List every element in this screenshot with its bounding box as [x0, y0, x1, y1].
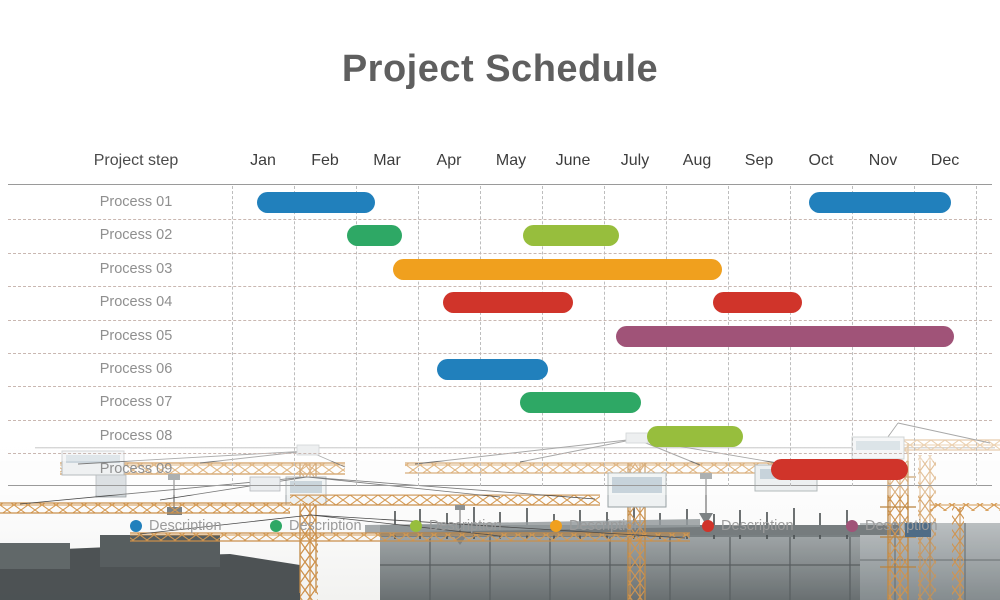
legend-dot-icon — [702, 520, 714, 532]
gantt-bar[interactable] — [257, 192, 375, 213]
legend-item-3[interactable]: Description — [410, 518, 502, 534]
gantt-bar[interactable] — [771, 459, 907, 480]
legend-label: Description — [149, 518, 222, 534]
legend-label: Description — [721, 518, 794, 534]
grid-vline — [232, 186, 233, 486]
row-label-5: Process 05 — [40, 328, 232, 344]
legend-dot-icon — [846, 520, 858, 532]
legend-label: Description — [289, 518, 362, 534]
month-header-row: Project step JanFebMarAprMayJuneJulyAugS… — [0, 150, 1000, 184]
legend-dot-icon — [410, 520, 422, 532]
row-label-4: Process 04 — [40, 294, 232, 310]
row-label-2: Process 02 — [40, 227, 232, 243]
month-header-sep: Sep — [728, 152, 790, 170]
gantt-bar[interactable] — [523, 225, 619, 246]
legend-item-5[interactable]: Description — [702, 518, 794, 534]
grid-rowline — [8, 253, 992, 254]
month-header-apr: Apr — [418, 152, 480, 170]
grid-bottom-rule — [8, 485, 992, 486]
row-label-8: Process 08 — [40, 428, 232, 444]
legend-label: Description — [569, 518, 642, 534]
gantt-grid: Process 01Process 02Process 03Process 04… — [8, 184, 992, 486]
legend-item-6[interactable]: Description — [846, 518, 938, 534]
row-label-7: Process 07 — [40, 394, 232, 410]
legend: DescriptionDescriptionDescriptionDescrip… — [130, 518, 920, 542]
grid-rowline — [8, 420, 992, 421]
month-header-feb: Feb — [294, 152, 356, 170]
gantt-bar[interactable] — [443, 292, 573, 313]
row-label-1: Process 01 — [40, 194, 232, 210]
grid-rowline — [8, 320, 992, 321]
grid-vline — [418, 186, 419, 486]
step-column-header: Project step — [40, 152, 232, 170]
legend-dot-icon — [550, 520, 562, 532]
legend-label: Description — [429, 518, 502, 534]
grid-rowline — [8, 453, 992, 454]
month-header-may: May — [480, 152, 542, 170]
grid-vline — [480, 186, 481, 486]
grid-rowline — [8, 286, 992, 287]
grid-rowline — [8, 386, 992, 387]
grid-vline — [294, 186, 295, 486]
month-header-dec: Dec — [914, 152, 976, 170]
row-label-9: Process 09 — [40, 461, 232, 477]
gantt-bar[interactable] — [616, 326, 954, 347]
legend-label: Description — [865, 518, 938, 534]
gantt-bar[interactable] — [809, 192, 952, 213]
page-title: Project Schedule — [0, 48, 1000, 91]
row-label-3: Process 03 — [40, 261, 232, 277]
gantt-bar[interactable] — [437, 359, 549, 380]
legend-item-1[interactable]: Description — [130, 518, 222, 534]
month-header-jan: Jan — [232, 152, 294, 170]
grid-vline — [976, 186, 977, 486]
gantt-bar[interactable] — [393, 259, 722, 280]
grid-top-rule — [8, 184, 992, 185]
gantt-bar[interactable] — [647, 426, 743, 447]
month-header-aug: Aug — [666, 152, 728, 170]
row-label-6: Process 06 — [40, 361, 232, 377]
legend-dot-icon — [270, 520, 282, 532]
legend-dot-icon — [130, 520, 142, 532]
grid-rowline — [8, 353, 992, 354]
month-header-july: July — [604, 152, 666, 170]
month-header-mar: Mar — [356, 152, 418, 170]
gantt-bar[interactable] — [347, 225, 403, 246]
gantt-bar[interactable] — [520, 392, 641, 413]
month-header-nov: Nov — [852, 152, 914, 170]
month-header-june: June — [542, 152, 604, 170]
grid-rowline — [8, 219, 992, 220]
gantt-bar[interactable] — [713, 292, 803, 313]
legend-item-2[interactable]: Description — [270, 518, 362, 534]
month-header-oct: Oct — [790, 152, 852, 170]
legend-item-4[interactable]: Description — [550, 518, 642, 534]
